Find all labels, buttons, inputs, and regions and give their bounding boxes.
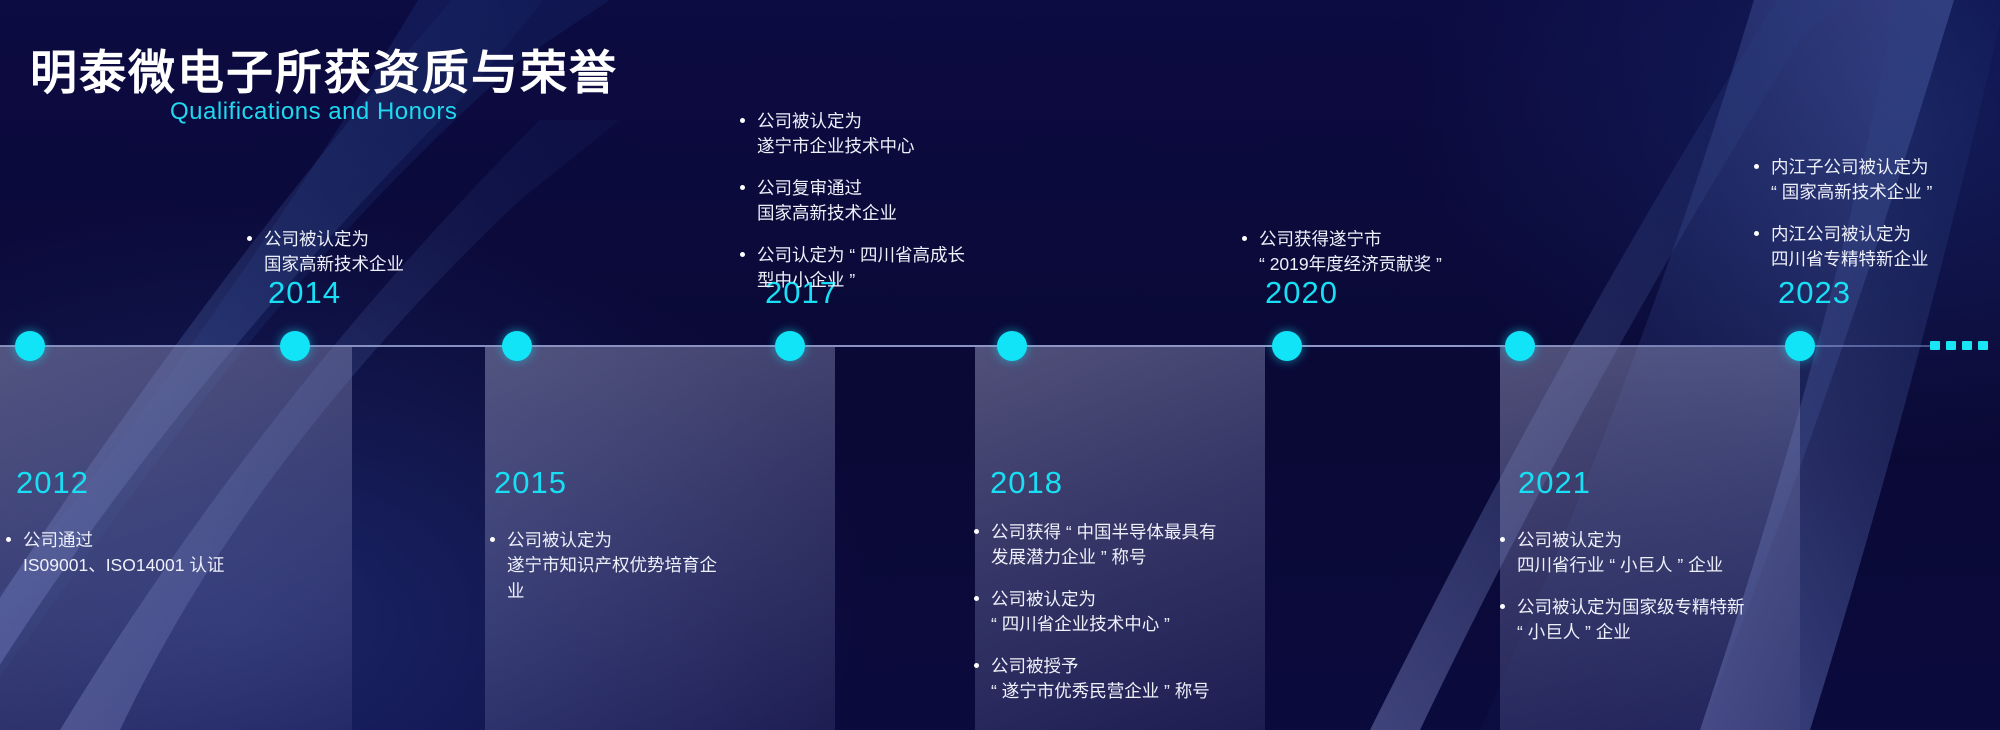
timeline-node-2021[interactable] [1505,331,1535,361]
milestone-bullets-2020: 公司获得遂宁市 “ 2019年度经济贡献奖 ” [1240,227,1560,278]
year-label-2020: 2020 [1265,275,1338,311]
list-item: 内江公司被认定为 四川省专精特新企业 [1752,222,2000,273]
list-item: 公司认定为 “ 四川省高成长 型中小企业 ” [738,243,1038,294]
year-label-2015: 2015 [494,465,567,501]
list-item: 公司被认定为 四川省行业 “ 小巨人 ” 企业 [1498,528,1818,579]
year-label-2021: 2021 [1518,465,1591,501]
timeline-node-2018[interactable] [997,331,1027,361]
timeline-axis-dashes [1930,341,1988,350]
page-title: 明泰微电子所获资质与荣誉 [30,34,618,103]
milestone-bullets-2015: 公司被认定为 遂宁市知识产权优势培育企 业 [488,528,778,604]
milestone-bullets-2023: 内江子公司被认定为 “ 国家高新技术企业 ” 内江公司被认定为 四川省专精特新企… [1752,155,2000,273]
milestone-bullets-2021: 公司被认定为 四川省行业 “ 小巨人 ” 企业 公司被认定为国家级专精特新 “ … [1498,528,1818,646]
list-item: 公司被认定为 “ 四川省企业技术中心 ” [972,587,1262,638]
list-item: 公司被认定为国家级专精特新 “ 小巨人 ” 企业 [1498,595,1818,646]
list-item: 公司被认定为 国家高新技术企业 [245,227,545,278]
list-item: 公司获得 “ 中国半导体最具有 发展潜力企业 ” 称号 [972,520,1262,571]
page-subtitle: Qualifications and Honors [170,98,457,126]
slide-canvas: 明泰微电子所获资质与荣誉 Qualifications and Honors 2… [0,0,2000,730]
list-item: 公司被认定为 遂宁市企业技术中心 [738,109,1038,160]
milestone-bullets-2018: 公司获得 “ 中国半导体最具有 发展潜力企业 ” 称号 公司被认定为 “ 四川省… [972,520,1262,704]
list-item: 公司通过 IS09001、ISO14001 认证 [4,528,334,579]
list-item: 公司获得遂宁市 “ 2019年度经济贡献奖 ” [1240,227,1560,278]
timeline-node-2015[interactable] [502,331,532,361]
timeline-node-2020[interactable] [1272,331,1302,361]
list-item: 内江子公司被认定为 “ 国家高新技术企业 ” [1752,155,2000,206]
year-label-2023: 2023 [1778,275,1851,311]
list-item: 公司被授予 “ 遂宁市优秀民营企业 ” 称号 [972,654,1262,705]
timeline-node-2017[interactable] [775,331,805,361]
list-item: 公司被认定为 遂宁市知识产权优势培育企 业 [488,528,778,604]
year-label-2014: 2014 [268,275,341,311]
timeline-node-2023[interactable] [1785,331,1815,361]
milestone-bullets-2014: 公司被认定为 国家高新技术企业 [245,227,545,278]
year-label-2012: 2012 [16,465,89,501]
milestone-bullets-2012: 公司通过 IS09001、ISO14001 认证 [4,528,334,579]
timeline-node-2014[interactable] [280,331,310,361]
timeline-node-2012[interactable] [15,331,45,361]
year-label-2018: 2018 [990,465,1063,501]
list-item: 公司复审通过 国家高新技术企业 [738,176,1038,227]
milestone-bullets-2017: 公司被认定为 遂宁市企业技术中心 公司复审通过 国家高新技术企业 公司认定为 “… [738,109,1038,293]
